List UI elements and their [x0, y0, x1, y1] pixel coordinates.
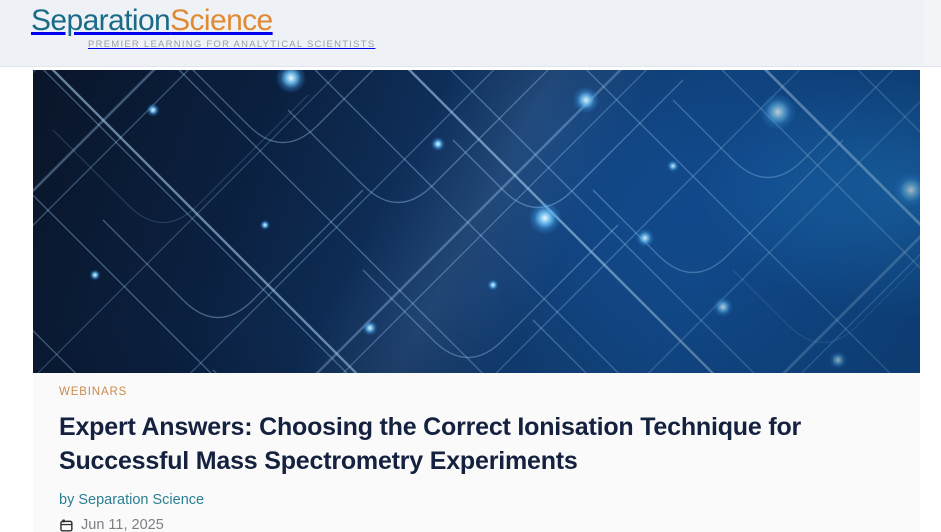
logo-tagline: PREMIER LEARNING FOR ANALYTICAL SCIENTIS…: [88, 39, 331, 51]
calendar-icon: [59, 518, 74, 532]
logo-word-secondary: Science: [170, 4, 273, 37]
article-date-row: Jun 11, 2025: [59, 516, 920, 532]
header-right-fill: [924, 0, 941, 66]
site-logo[interactable]: SeparationScience PREMIER LEARNING FOR A…: [31, 5, 331, 51]
logo-word-primary: Separation: [31, 4, 170, 37]
site-header: SeparationScience PREMIER LEARNING FOR A…: [0, 0, 941, 67]
page-body: WEBINARS Expert Answers: Choosing the Co…: [0, 67, 941, 532]
logo-wordmark: SeparationScience: [31, 5, 331, 37]
hero-vignette: [33, 70, 920, 373]
article-hero-image[interactable]: [33, 70, 920, 373]
article-category[interactable]: WEBINARS: [59, 385, 920, 399]
article-title[interactable]: Expert Answers: Choosing the Correct Ion…: [59, 410, 819, 478]
article-meta: WEBINARS Expert Answers: Choosing the Co…: [33, 373, 920, 532]
article-date: Jun 11, 2025: [81, 516, 164, 532]
article-byline[interactable]: by Separation Science: [59, 491, 920, 509]
article-card[interactable]: WEBINARS Expert Answers: Choosing the Co…: [33, 70, 920, 532]
